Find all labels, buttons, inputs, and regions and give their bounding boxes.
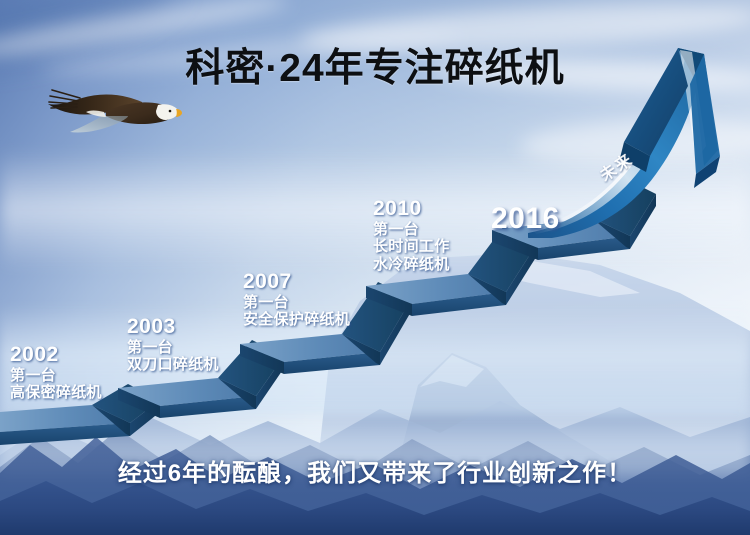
step-label-2007: 2007 第一台 安全保护碎纸机 [243, 270, 350, 329]
step-desc-2007-line2: 安全保护碎纸机 [243, 311, 350, 329]
step-desc-2010-line2: 长时间工作 [373, 238, 450, 256]
step-label-2016: 2016 [491, 202, 560, 236]
step-label-2003: 2003 第一台 双刀口碎纸机 [127, 315, 219, 374]
step-year-2010: 2010 [373, 197, 450, 221]
step-desc-2002-line1: 第一台 [10, 367, 102, 385]
step-desc-2010-line1: 第一台 [373, 221, 450, 239]
step-desc-2003-line2: 双刀口碎纸机 [127, 356, 219, 374]
step-year-2002: 2002 [10, 343, 102, 367]
step-year-2016: 2016 [491, 202, 560, 236]
footer-tagline: 经过6年的酝酿，我们又带来了行业创新之作！ [0, 461, 750, 487]
step-desc-2007-line1: 第一台 [243, 294, 350, 312]
step-year-2003: 2003 [127, 315, 219, 339]
page-title: 科密·24年专注碎纸机 [0, 49, 750, 90]
promo-banner: 未来 [0, 0, 750, 535]
step-desc-2003-line1: 第一台 [127, 339, 219, 357]
step-year-2007: 2007 [243, 270, 350, 294]
step-label-2010: 2010 第一台 长时间工作 水冷碎纸机 [373, 197, 450, 274]
step-label-2002: 2002 第一台 高保密碎纸机 [10, 343, 102, 402]
step-desc-2010-line3: 水冷碎纸机 [373, 256, 450, 274]
step-desc-2002-line2: 高保密碎纸机 [10, 384, 102, 402]
